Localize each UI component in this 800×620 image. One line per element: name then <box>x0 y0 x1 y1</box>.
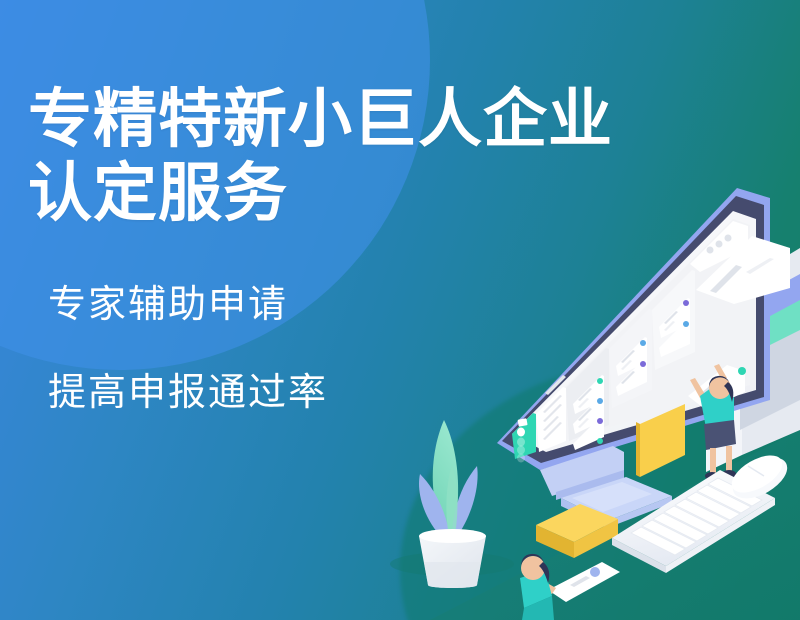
banner-text-block: 专精特新小巨人企业 认定服务 专家辅助申请 提高申报通过率 <box>28 82 798 416</box>
subtitle-1: 专家辅助申请 <box>48 282 798 328</box>
promo-banner: 专精特新小巨人企业 认定服务 专家辅助申请 提高申报通过率 <box>0 0 800 620</box>
page-title: 专精特新小巨人企业 认定服务 <box>28 82 798 230</box>
page-title-line2: 认定服务 <box>28 156 798 230</box>
potted-plant <box>390 420 514 588</box>
page-title-line1: 专精特新小巨人企业 <box>28 83 613 155</box>
subtitle-2: 提高申报通过率 <box>48 370 798 416</box>
